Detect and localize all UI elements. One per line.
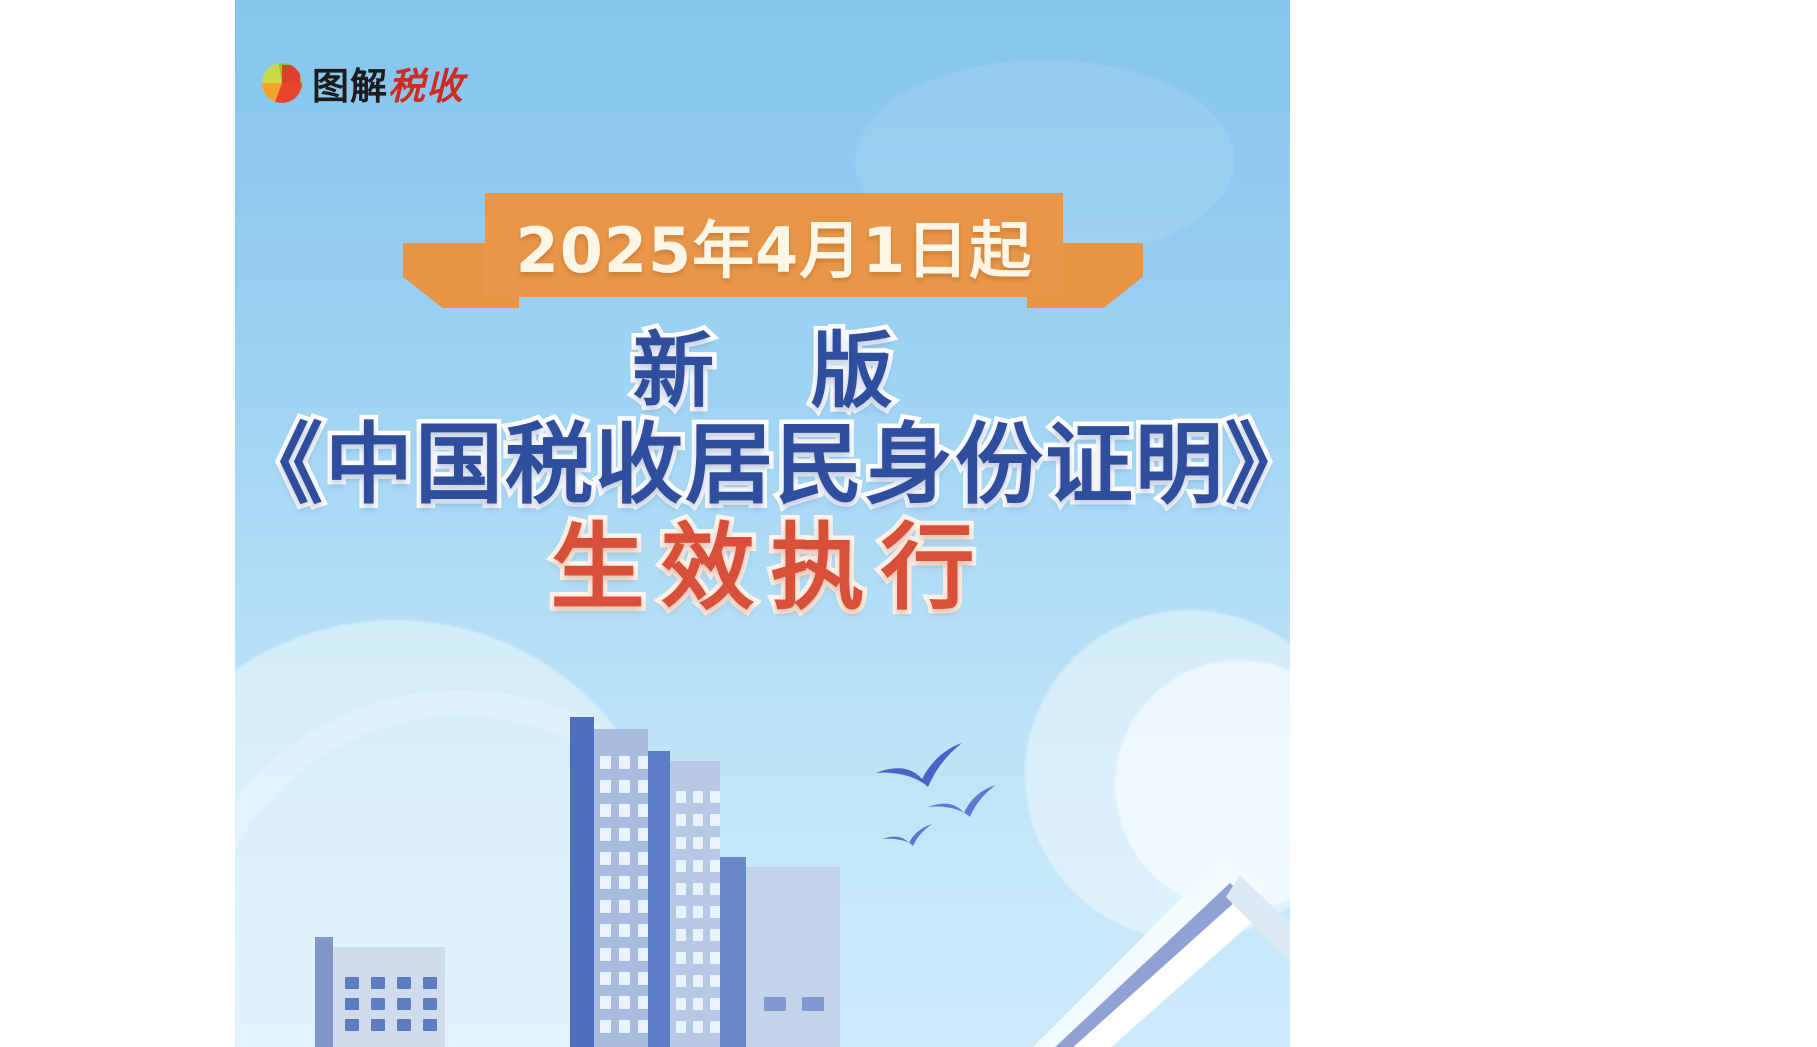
window-grid [676, 791, 720, 1033]
building-tower-a [570, 712, 648, 1047]
ribbon-date-text: 2025年4月1日起 [516, 200, 1033, 290]
headline-line-1: 新 版 [235, 330, 1290, 414]
airplane-wing-icon [1030, 845, 1290, 1047]
headline-line-2: 《中国税收居民身份证明》 [235, 420, 1290, 510]
pie-chart-icon [262, 63, 302, 103]
window-grid [345, 977, 437, 1031]
airplane-wing [1030, 845, 1290, 1047]
birds-icon [870, 735, 1050, 855]
building-tower-b [648, 747, 720, 1047]
date-ribbon: 2025年4月1日起 [403, 193, 1143, 308]
brand-logo: 图解税收 [262, 56, 464, 110]
building-left-short [315, 937, 445, 1047]
window-grid [764, 997, 824, 1011]
building-right-block [720, 852, 840, 1047]
headline-line-3: 生效执行 [235, 521, 1290, 617]
right-white-gutter [1290, 0, 1817, 1047]
ribbon-body: 2025年4月1日起 [485, 193, 1063, 297]
poster-graphic: 图解税收 2025年4月1日起 新 版 《中国税收居民身份证明》 生效执行 [235, 0, 1290, 1047]
screenshot-canvas: 图解税收 2025年4月1日起 新 版 《中国税收居民身份证明》 生效执行 [0, 0, 1817, 1047]
window-grid [600, 756, 649, 1033]
headline-block: 新 版 《中国税收居民身份证明》 生效执行 [235, 330, 1290, 617]
flying-birds [870, 735, 1050, 855]
left-white-gutter [0, 0, 235, 1047]
brand-logo-label: 图解税收 [312, 56, 464, 110]
